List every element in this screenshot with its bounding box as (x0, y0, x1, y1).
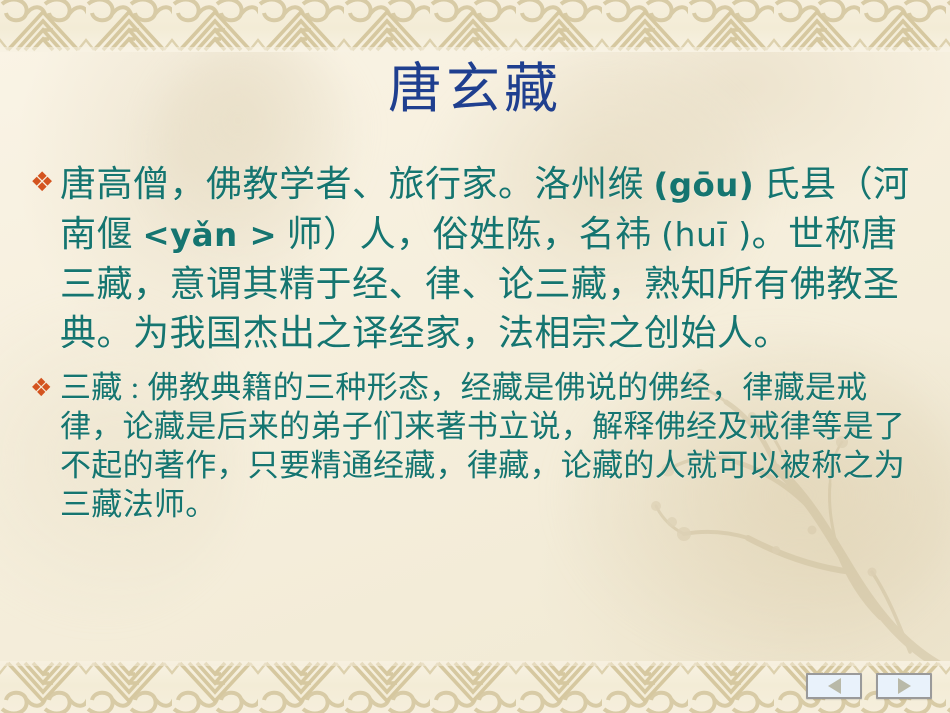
diamond-bullet-icon: ❖ (30, 160, 60, 196)
text-run: <yǎn > (143, 216, 278, 254)
bullet-paragraph-1: 唐高僧，佛教学者、旅行家。洛州缑 (gōu) 氏县（河南偃 <yǎn > 师）人… (60, 160, 925, 358)
list-item: ❖ 三藏 : 佛教典籍的三种形态，经藏是佛说的佛经，律藏是戒律，论藏是后来的弟子… (30, 368, 925, 524)
triangle-left-icon (828, 678, 841, 694)
triangle-right-icon (898, 678, 911, 694)
diamond-bullet-icon: ❖ (30, 368, 60, 400)
text-run: 唐高僧，佛教学者、旅行家。洛州缑 (60, 164, 654, 204)
page-title: 唐玄藏 (0, 62, 950, 116)
slide-canvas: 唐玄藏 ❖ 唐高僧，佛教学者、旅行家。洛州缑 (gōu) 氏县（河南偃 <yǎn… (0, 0, 950, 713)
slide-navigation (806, 673, 932, 699)
top-decorative-border (0, 0, 950, 52)
next-slide-button[interactable] (876, 673, 932, 699)
bullet-paragraph-2: 三藏 : 佛教典籍的三种形态，经藏是佛说的佛经，律藏是戒律，论藏是后来的弟子们来… (60, 368, 925, 524)
slide-body: ❖ 唐高僧，佛教学者、旅行家。洛州缑 (gōu) 氏县（河南偃 <yǎn > 师… (30, 160, 925, 524)
text-run: (gōu) (654, 166, 755, 204)
list-item: ❖ 唐高僧，佛教学者、旅行家。洛州缑 (gōu) 氏县（河南偃 <yǎn > 师… (30, 160, 925, 358)
previous-slide-button[interactable] (806, 673, 862, 699)
text-run: 三藏 : 佛教典籍的三种形态，经藏是佛说的佛经，律藏是戒律，论藏是后来的弟子们来… (60, 370, 905, 522)
text-run: (huī ) (661, 215, 752, 254)
text-run: 师）人，俗姓陈，名祎 (277, 214, 661, 254)
